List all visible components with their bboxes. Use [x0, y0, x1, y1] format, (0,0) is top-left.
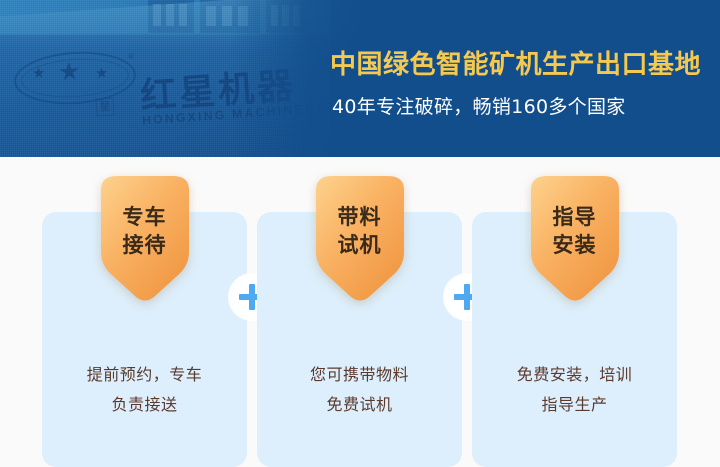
service-badge: 专车 接待 [87, 174, 203, 309]
banner-title: 中国绿色智能矿机生产出口基地 [330, 44, 720, 81]
plus-vertical-bar [249, 284, 255, 310]
desc-line-1: 提前预约，专车 [52, 360, 237, 390]
hero-banner: ★ ★ ★ ® 星 红星机器 HONGXING MACHINERY 中国绿色智能… [0, 0, 720, 157]
plus-vertical-bar [464, 284, 470, 310]
service-card[interactable]: 指导 安装 免费安装，培训 指导生产 [472, 212, 677, 467]
service-badge-label: 专车 接待 [87, 204, 203, 259]
service-badge-label: 带料 试机 [302, 204, 418, 259]
service-description: 免费安装，培训 指导生产 [482, 360, 667, 419]
desc-line-1: 您可携带物料 [267, 360, 452, 390]
banner-text-block: 中国绿色智能矿机生产出口基地 40年专注破碎，畅销160多个国家 [330, 0, 720, 157]
service-description: 提前预约，专车 负责接送 [52, 360, 237, 419]
desc-line-2: 负责接送 [52, 390, 237, 420]
service-badge: 指导 安装 [517, 174, 633, 309]
badge-line-1: 指导 [517, 204, 633, 232]
service-badge-label: 指导 安装 [517, 204, 633, 259]
badge-line-2: 接待 [87, 232, 203, 260]
desc-line-2: 免费试机 [267, 390, 452, 420]
service-cards-section: 专车 接待 提前预约，专车 负责接送 [0, 157, 720, 467]
banner-subtitle: 40年专注破碎，畅销160多个国家 [332, 92, 720, 119]
desc-line-1: 免费安装，培训 [482, 360, 667, 390]
badge-line-2: 试机 [302, 232, 418, 260]
promo-page: ★ ★ ★ ® 星 红星机器 HONGXING MACHINERY 中国绿色智能… [0, 0, 720, 467]
service-card[interactable]: 带料 试机 您可携带物料 免费试机 [257, 212, 462, 467]
badge-line-1: 专车 [87, 204, 203, 232]
service-description: 您可携带物料 免费试机 [267, 360, 452, 419]
badge-line-2: 安装 [517, 232, 633, 260]
badge-line-1: 带料 [302, 204, 418, 232]
desc-line-2: 指导生产 [482, 390, 667, 420]
service-card[interactable]: 专车 接待 提前预约，专车 负责接送 [42, 212, 247, 467]
service-badge: 带料 试机 [302, 174, 418, 309]
